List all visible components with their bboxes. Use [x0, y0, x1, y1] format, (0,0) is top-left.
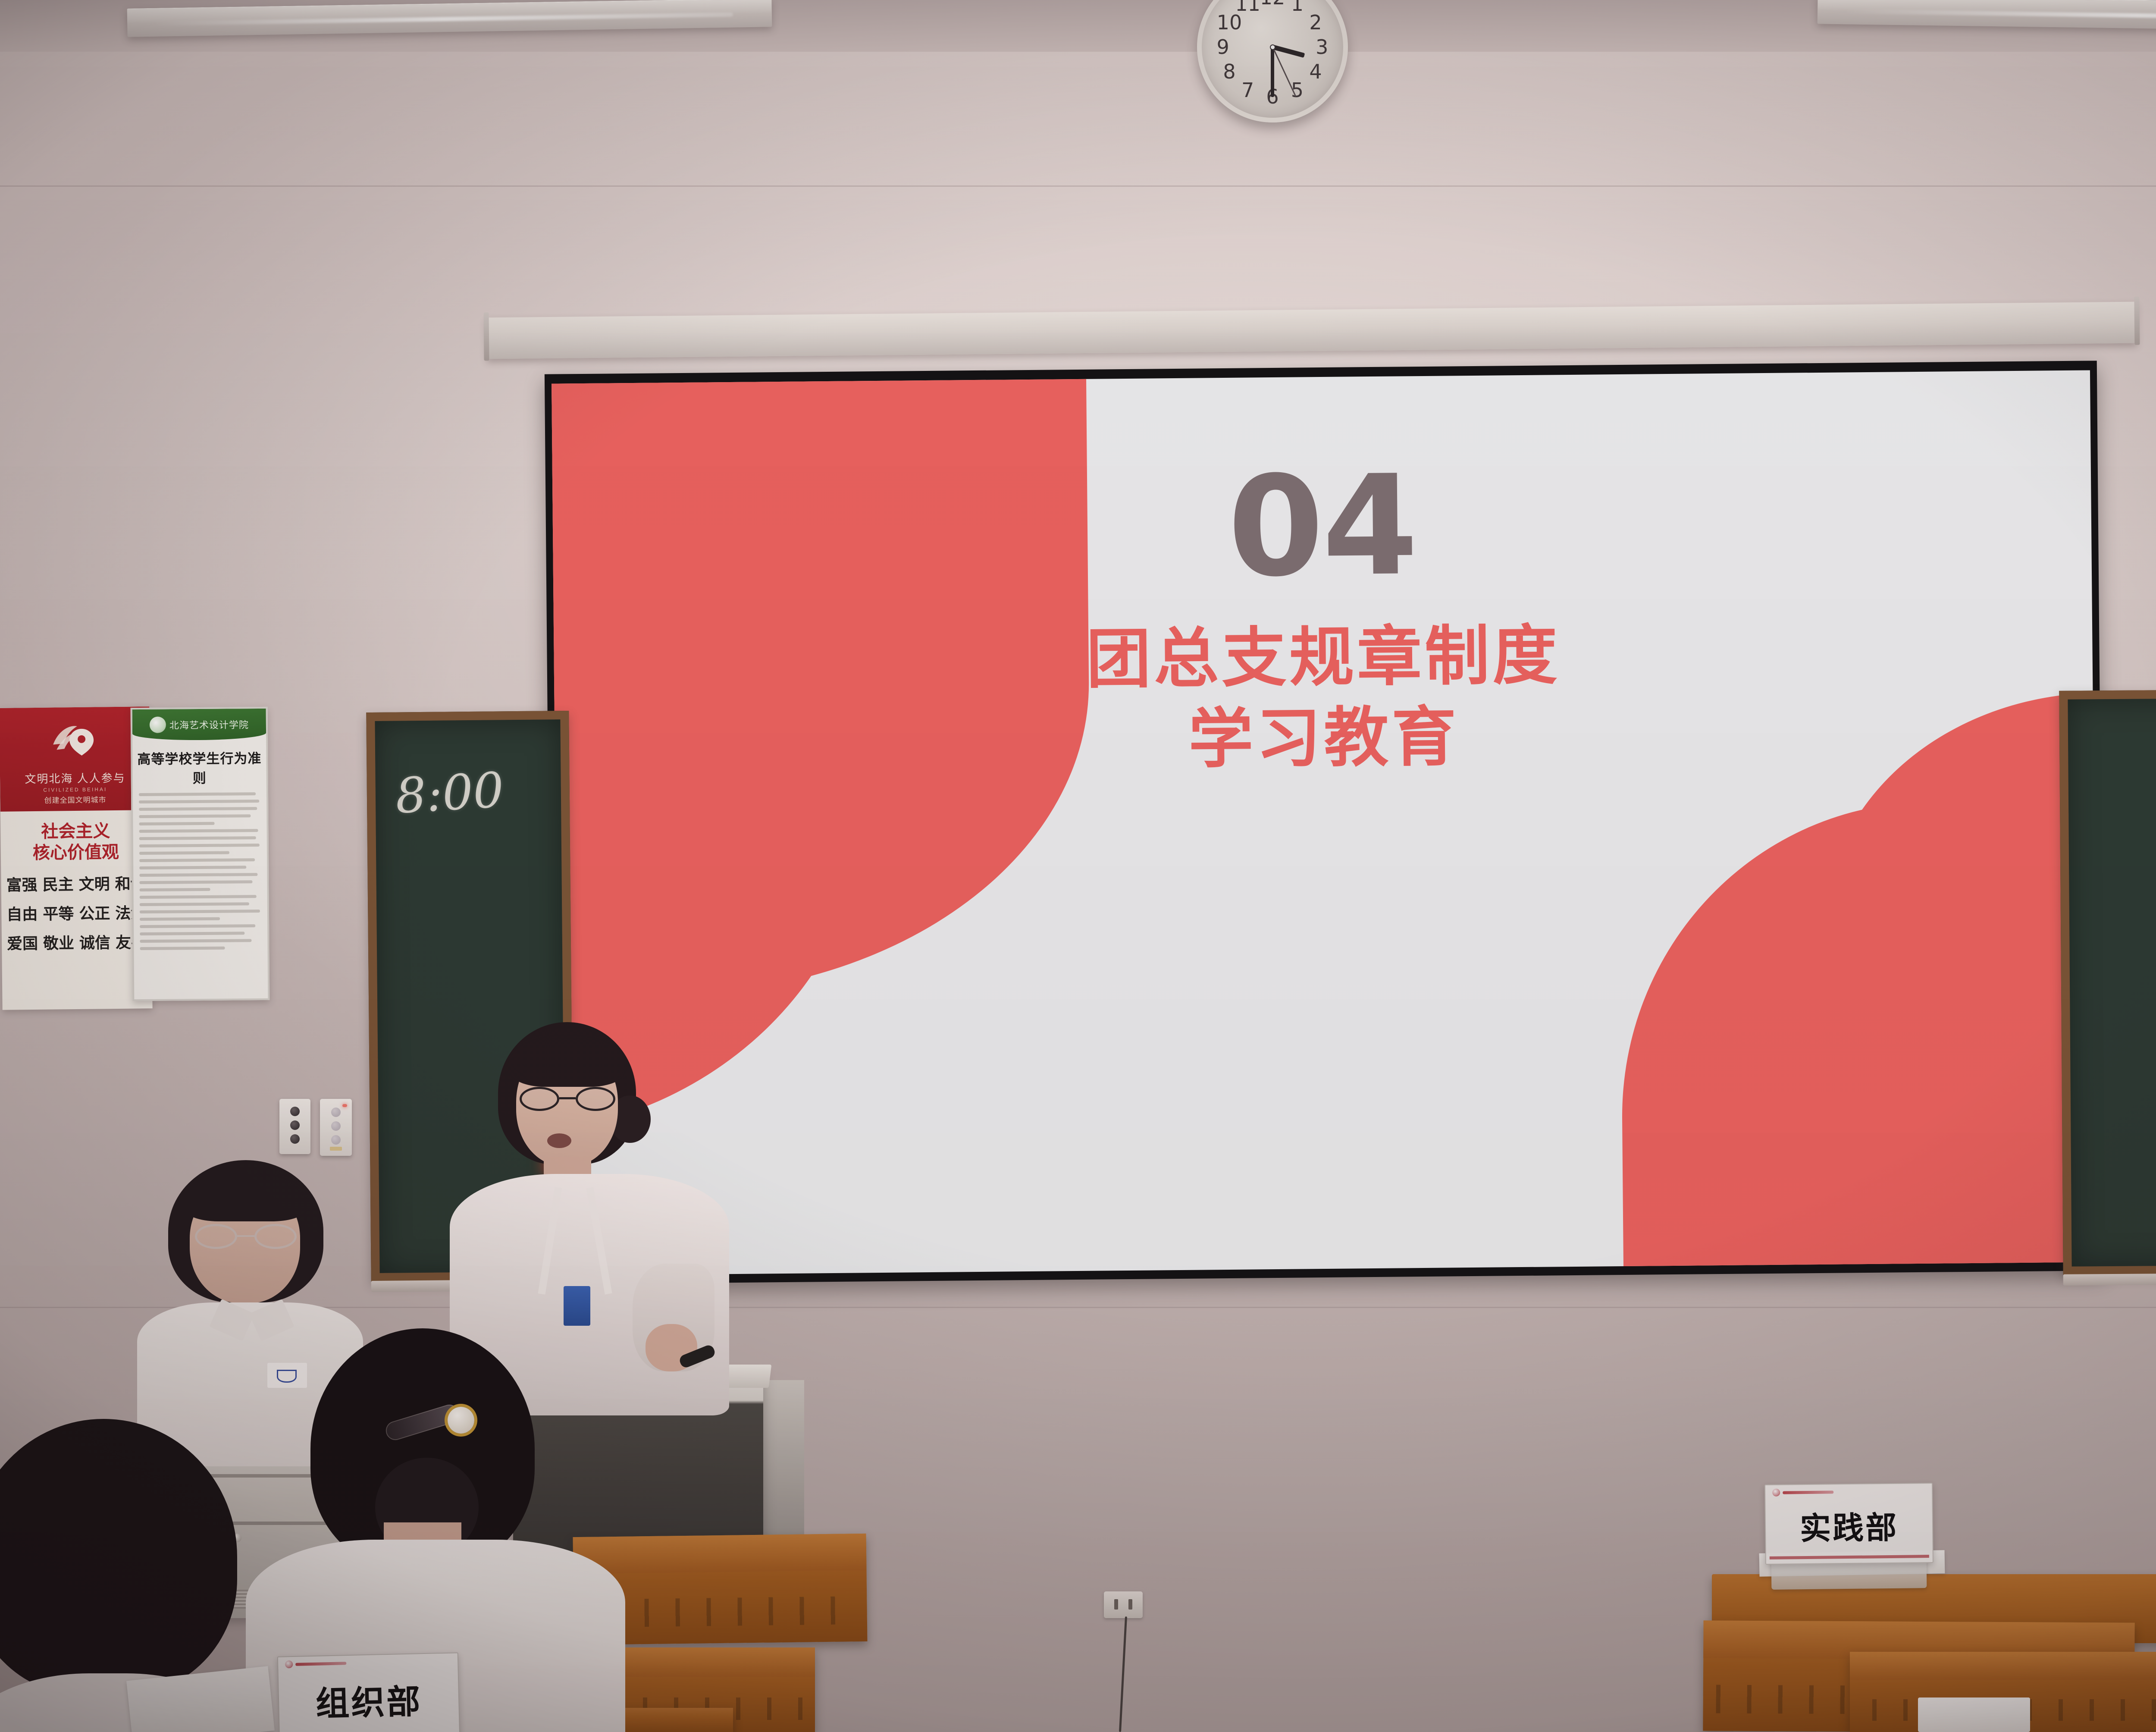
value-item: 敬业 — [43, 931, 75, 954]
university-wordmark — [1783, 1490, 1833, 1494]
panel-button-up-icon[interactable] — [290, 1107, 300, 1116]
valance-bracket-right — [2134, 297, 2140, 345]
panel-label-strip — [330, 1147, 342, 1151]
values-row-2: 自由 平等 公正 法治 — [6, 901, 147, 924]
university-logo-icon — [150, 717, 166, 733]
value-item: 民主 — [42, 872, 74, 895]
right-chalkboard — [2059, 689, 2156, 1275]
value-item: 富强 — [6, 872, 38, 895]
clock-numeral-4: 4 — [1309, 60, 1322, 83]
panel-power-led-icon — [342, 1104, 347, 1107]
screen-control-panel-light[interactable] — [320, 1099, 352, 1156]
panel-button-down-icon[interactable] — [331, 1135, 341, 1145]
projector-screen: 04 团总支规章制度 学习教育 — [545, 361, 2105, 1284]
slide-section-number: 04 — [1227, 460, 1417, 593]
clock-numeral-12: 12 — [1260, 0, 1285, 9]
clock-numeral-11: 11 — [1235, 0, 1260, 16]
poster-values-banner: 文明北海 人人参与 CIVILIZED BEIHAI 创建全国文明城市 — [0, 706, 150, 812]
placard-logo-row — [278, 1653, 458, 1668]
placard-accent-line — [1770, 1555, 1929, 1559]
attendee-left-hair — [0, 1419, 237, 1695]
value-item: 公正 — [79, 901, 110, 924]
panel-button-down-icon[interactable] — [290, 1134, 300, 1144]
poster-code-body — [133, 792, 268, 950]
value-item: 文明 — [78, 872, 110, 894]
poster-code-brand: 北海艺术设计学院 — [169, 717, 249, 731]
presenter-id-badge — [564, 1286, 590, 1326]
panel-button-stop-icon[interactable] — [331, 1121, 341, 1131]
presenter-glasses-icon — [520, 1087, 615, 1111]
presenter-mouth — [547, 1133, 571, 1148]
poster-values-banner-cn: 文明北海 人人参与 — [25, 769, 125, 786]
slide-title-line-2: 学习教育 — [1188, 699, 1460, 778]
placard-organization-label: 组织部 — [279, 1674, 459, 1726]
poster-code-title: 高等学校学生行为准则 — [132, 747, 266, 787]
clock-numeral-2: 2 — [1309, 11, 1322, 34]
wall-power-outlet[interactable] — [1104, 1591, 1143, 1618]
civilized-city-emblem-icon — [50, 717, 99, 759]
chalkboard-time-note: 8:00 — [394, 762, 505, 825]
panel-button-stop-icon[interactable] — [290, 1120, 300, 1130]
clock-numeral-9: 9 — [1217, 35, 1229, 59]
poster-core-socialist-values: 文明北海 人人参与 CIVILIZED BEIHAI 创建全国文明城市 社会主义… — [0, 706, 153, 1010]
classroom-scene: 12 1 2 3 4 5 6 7 8 9 10 11 04 团总支规章制度 学习… — [0, 0, 2156, 1732]
placard-organization-department: 组织部 — [277, 1652, 460, 1732]
poster-values-rows: 富强 民主 文明 和谐 自由 平等 公正 法治 爱国 敬业 诚信 友善 — [1, 871, 152, 954]
slide-surface: 04 团总支规章制度 学习教育 — [552, 370, 2098, 1275]
placard-practice-label: 实践部 — [1765, 1502, 1932, 1549]
value-item: 自由 — [6, 902, 38, 925]
university-wordmark — [295, 1662, 346, 1666]
poster-values-title-line-2: 核心价值观 — [1, 841, 151, 864]
panel-button-up-icon[interactable] — [331, 1108, 341, 1117]
wall-seam-upper — [0, 185, 2156, 187]
poster-values-title: 社会主义 核心价值观 — [0, 820, 151, 864]
values-row-3: 爱国 敬业 诚信 友善 — [7, 930, 147, 954]
slide-title-line-1: 团总支规章制度 — [1086, 618, 1561, 698]
slide-content: 04 团总支规章制度 学习教育 — [552, 370, 2098, 1275]
screen-control-panel-dark[interactable] — [279, 1099, 310, 1154]
chalk-tray-right — [2063, 1273, 2156, 1286]
poster-code-header: 北海艺术设计学院 — [132, 709, 266, 740]
university-logo-icon — [1772, 1489, 1780, 1497]
valance-bracket-left — [484, 312, 489, 361]
university-logo-icon — [285, 1660, 293, 1668]
placard-practice-department: 实践部 — [1764, 1483, 1934, 1565]
value-item: 爱国 — [7, 931, 38, 954]
lectern-side-panel — [757, 1380, 804, 1545]
placard-logo-row — [1765, 1484, 1932, 1497]
value-item: 诚信 — [79, 930, 111, 953]
poster-values-title-line-1: 社会主义 — [0, 820, 150, 843]
clock-numeral-1: 1 — [1291, 0, 1304, 16]
clock-minute-hand — [1271, 47, 1274, 97]
clock-numeral-7: 7 — [1241, 78, 1254, 102]
clock-center-pin — [1270, 44, 1275, 50]
student-fringe — [184, 1173, 307, 1221]
poster-values-banner-en: CIVILIZED BEIHAI — [43, 786, 107, 793]
paper-sheet-right-low — [1918, 1697, 2030, 1732]
values-row-1: 富强 民主 文明 和谐 — [6, 871, 146, 895]
clock-numeral-3: 3 — [1316, 35, 1328, 59]
attendee-org-pearl-ornament — [448, 1407, 474, 1434]
poster-student-code-of-conduct: 北海艺术设计学院 高等学校学生行为准则 — [131, 707, 270, 1001]
value-item: 平等 — [43, 901, 74, 924]
clock-numeral-8: 8 — [1223, 60, 1235, 83]
poster-values-banner-sub: 创建全国文明城市 — [44, 794, 106, 805]
presenter-fringe — [510, 1035, 625, 1087]
student-glasses-icon — [195, 1224, 297, 1249]
